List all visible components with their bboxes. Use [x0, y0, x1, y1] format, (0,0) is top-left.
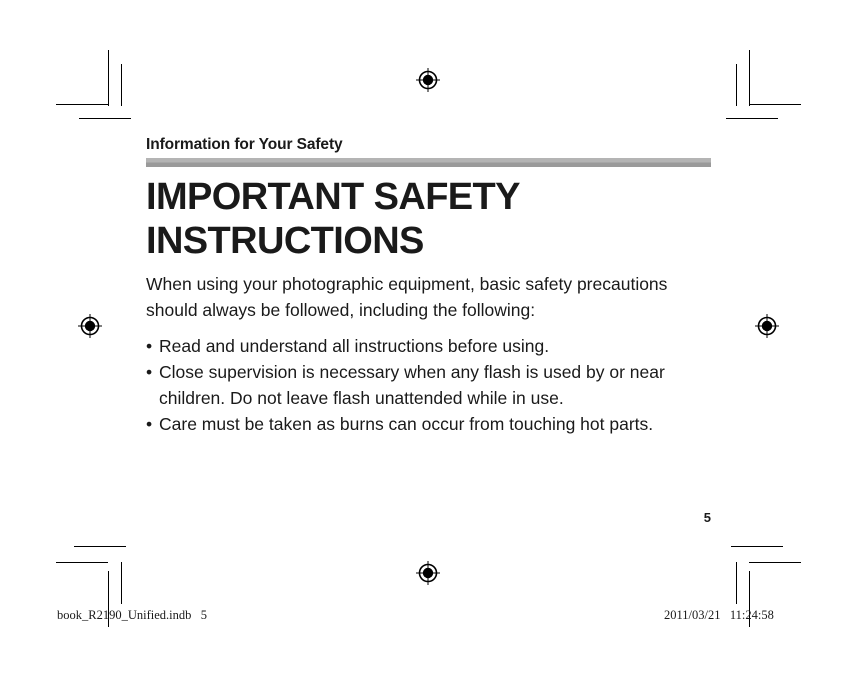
- crop-mark-top-left-inner-vertical: [121, 64, 122, 106]
- registration-target-bottom-center: [416, 561, 440, 585]
- crop-mark-bottom-right-outer-vertical: [736, 562, 737, 604]
- page-sheet: Information for Your Safety IMPORTANT SA…: [0, 0, 857, 674]
- intro-paragraph: When using your photographic equipment, …: [146, 271, 704, 323]
- safety-instructions-list: • Read and understand all instructions b…: [146, 333, 711, 437]
- crop-mark-bottom-left-outer-horizontal: [74, 546, 126, 547]
- page-number: 5: [146, 510, 711, 525]
- bullet-icon: •: [146, 411, 152, 437]
- list-item: • Read and understand all instructions b…: [146, 333, 711, 359]
- crop-mark-top-left-outer-vertical: [108, 50, 109, 106]
- crop-mark-top-left-outer-horizontal: [56, 104, 108, 105]
- imposition-timestamp: 2011/03/21 11:24:58: [664, 608, 774, 623]
- registration-target-right-middle: [755, 314, 779, 338]
- bullet-icon: •: [146, 333, 152, 359]
- crop-mark-top-right-inner-vertical: [736, 64, 737, 106]
- registration-target-left-middle: [78, 314, 102, 338]
- header-rule-bar: [146, 158, 711, 167]
- crop-mark-bottom-right-inner-horizontal: [749, 562, 801, 563]
- crop-mark-bottom-left-outer-vertical: [121, 562, 122, 604]
- crop-mark-top-right-outer-horizontal: [749, 104, 801, 105]
- crop-mark-bottom-left-inner-horizontal: [56, 562, 108, 563]
- imposition-file-name: book_R2190_Unified.indb 5: [57, 608, 207, 623]
- list-item: • Close supervision is necessary when an…: [146, 359, 711, 411]
- crop-mark-top-right-inner-horizontal: [726, 118, 778, 119]
- bullet-icon: •: [146, 359, 152, 385]
- page-content: Information for Your Safety IMPORTANT SA…: [146, 136, 711, 437]
- crop-mark-top-left-inner-horizontal: [79, 118, 131, 119]
- crop-mark-bottom-right-outer-horizontal: [731, 546, 783, 547]
- registration-target-top-center: [416, 68, 440, 92]
- crop-mark-top-right-outer-vertical: [749, 50, 750, 106]
- list-item-text: Care must be taken as burns can occur fr…: [159, 414, 653, 434]
- section-title: Information for Your Safety: [146, 136, 711, 154]
- list-item: • Care must be taken as burns can occur …: [146, 411, 711, 437]
- list-item-text: Close supervision is necessary when any …: [159, 362, 665, 408]
- list-item-text: Read and understand all instructions bef…: [159, 336, 549, 356]
- page-title: IMPORTANT SAFETY INSTRUCTIONS: [146, 175, 616, 263]
